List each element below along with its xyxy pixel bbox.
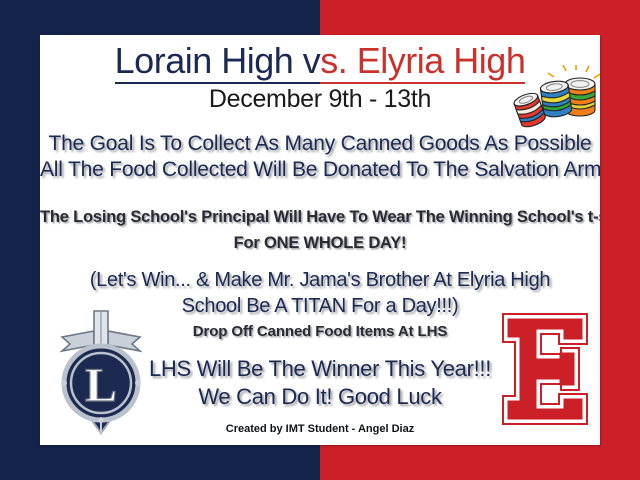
title-elyria-part: s. Elyria High: [320, 40, 525, 84]
goal-line-2: All The Food Collected Will Be Donated T…: [40, 157, 600, 182]
page-title: Lorain High vs. Elyria High: [115, 41, 526, 81]
lorain-high-logo-icon: L: [46, 307, 156, 439]
svg-text:L: L: [85, 359, 117, 412]
flyer-white-card: Lorain High vs. Elyria High December 9th…: [40, 35, 600, 445]
bet-line-1: The Losing School's Principal Will Have …: [40, 205, 600, 229]
poster-canvas: Lorain High vs. Elyria High December 9th…: [0, 0, 640, 480]
goal-line-1: The Goal Is To Collect As Many Canned Go…: [40, 131, 600, 156]
rally-line-1: (Let's Win... & Make Mr. Jama's Brother …: [40, 267, 600, 293]
title-lorain-part: Lorain High v: [115, 40, 321, 84]
bet-line-2: For ONE WHOLE DAY!: [40, 231, 600, 255]
canned-goods-icon: [510, 65, 600, 133]
elyria-high-logo-icon: [492, 313, 596, 425]
